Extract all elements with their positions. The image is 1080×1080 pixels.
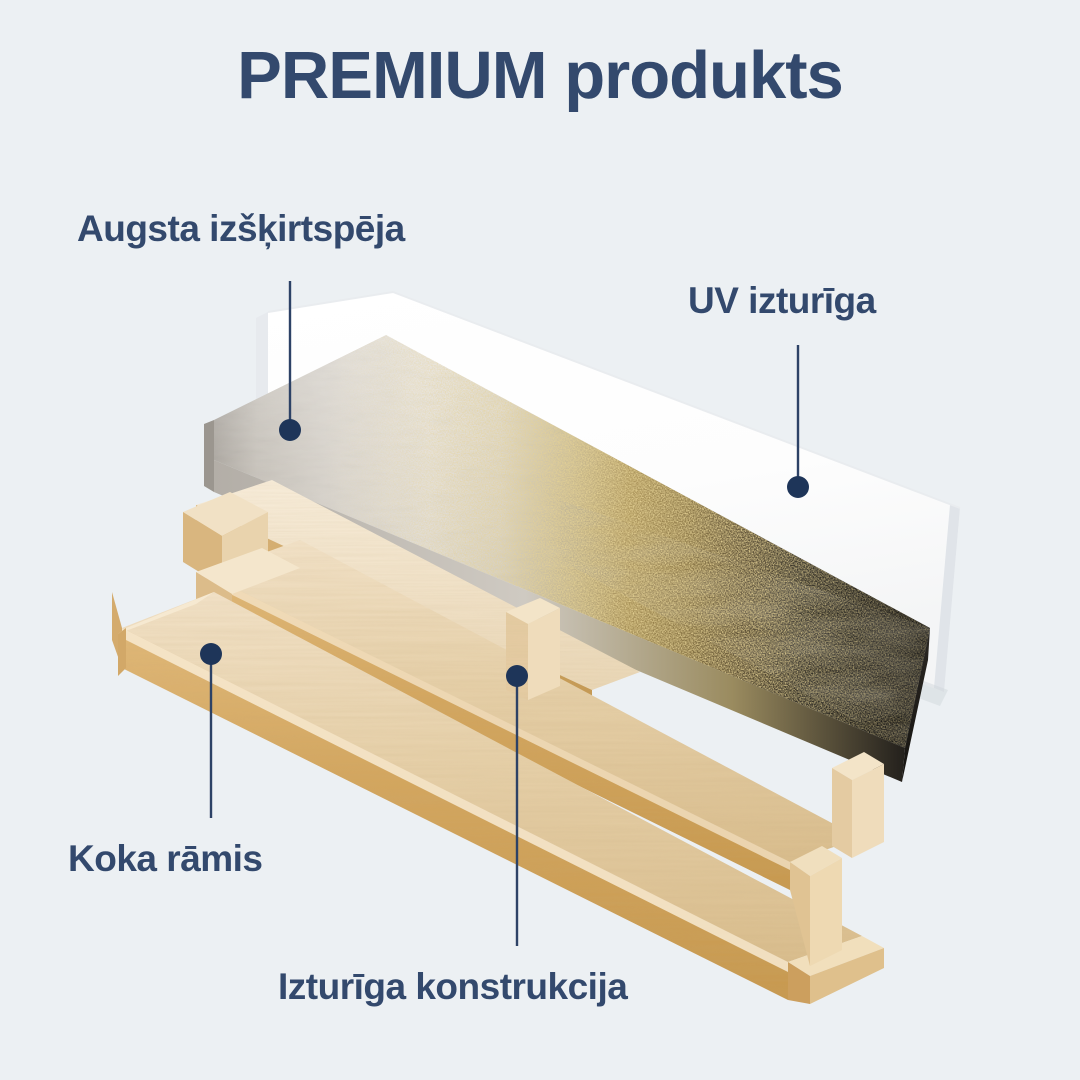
product-exploded-illustration — [0, 0, 1080, 1080]
page-title: PREMIUM produkts — [237, 42, 843, 109]
callout-dot-uv — [787, 476, 809, 498]
callout-dot-construction — [506, 665, 528, 687]
callout-dot-resolution — [279, 419, 301, 441]
page-title-bold: PREMIUM — [237, 38, 546, 113]
callout-label-construction: Izturīga konstrukcija — [278, 968, 627, 1005]
callout-label-wood-frame: Koka rāmis — [68, 840, 263, 877]
infographic-stage: PREMIUM produkts Augsta izšķirtspēja UV … — [0, 0, 1080, 1080]
callout-label-resolution: Augsta izšķirtspēja — [77, 210, 405, 247]
page-title-rest: produkts — [564, 38, 843, 113]
callout-dot-wood-frame — [200, 643, 222, 665]
cross-brace-right — [832, 752, 884, 858]
callout-label-uv: UV izturīga — [688, 282, 876, 319]
